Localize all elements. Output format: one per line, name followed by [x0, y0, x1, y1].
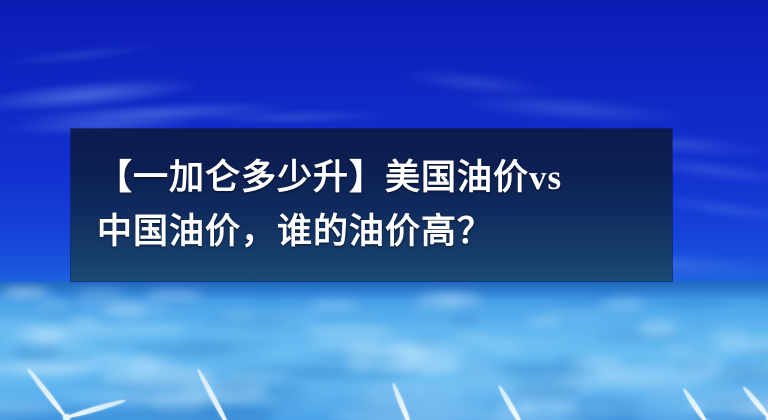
cloud-texture-blob: [679, 414, 768, 420]
cloud-texture-blob: [180, 341, 277, 351]
cloud-texture-blob: [293, 290, 320, 298]
cloud-texture-blob: [98, 343, 125, 352]
cloud-texture-blob: [381, 359, 493, 374]
cloud-texture-blob: [308, 301, 358, 311]
cloud-texture-blob: [253, 290, 281, 300]
cloud-texture-blob: [14, 342, 62, 361]
cloud-texture-blob: [22, 324, 113, 335]
cloud-texture-blob: [676, 361, 711, 370]
cloud-texture-blob: [638, 320, 677, 336]
cloud-texture-blob: [117, 407, 283, 420]
cloud-texture-blob: [38, 308, 82, 315]
cloud-texture-blob: [604, 407, 663, 413]
title-line-1: 【一加仑多少升】美国油价vs: [97, 151, 646, 205]
cloud-texture-blob: [602, 299, 646, 310]
cloud-texture-blob: [569, 356, 622, 371]
cloud-texture-blob: [688, 320, 716, 330]
cloud-texture-blob: [347, 381, 462, 407]
cloud-texture-blob: [306, 325, 394, 339]
cloud-deck: [0, 282, 768, 420]
cloud-texture-blob: [450, 315, 479, 325]
cloud-texture-blob: [234, 364, 352, 378]
cloud-texture-blob: [249, 315, 302, 326]
cover-image-canvas: 【一加仑多少升】美国油价vs 中国油价，谁的油价高？: [0, 0, 768, 420]
cloud-texture-blob: [643, 387, 768, 407]
cloud-texture-blob: [105, 304, 146, 317]
cloud-texture-blob: [733, 349, 768, 362]
cloud-texture-blob: [145, 290, 203, 300]
title-line-2: 中国油价，谁的油价高？: [97, 205, 646, 259]
cloud-texture-blob: [330, 408, 515, 420]
title-caption-bar: 【一加仑多少升】美国油价vs 中国油价，谁的油价高？: [71, 129, 672, 281]
cloud-texture-blob: [118, 373, 256, 397]
cloud-texture-blob: [665, 301, 724, 309]
cloud-texture-blob: [485, 347, 523, 354]
cloud-texture-blob: [589, 288, 615, 296]
